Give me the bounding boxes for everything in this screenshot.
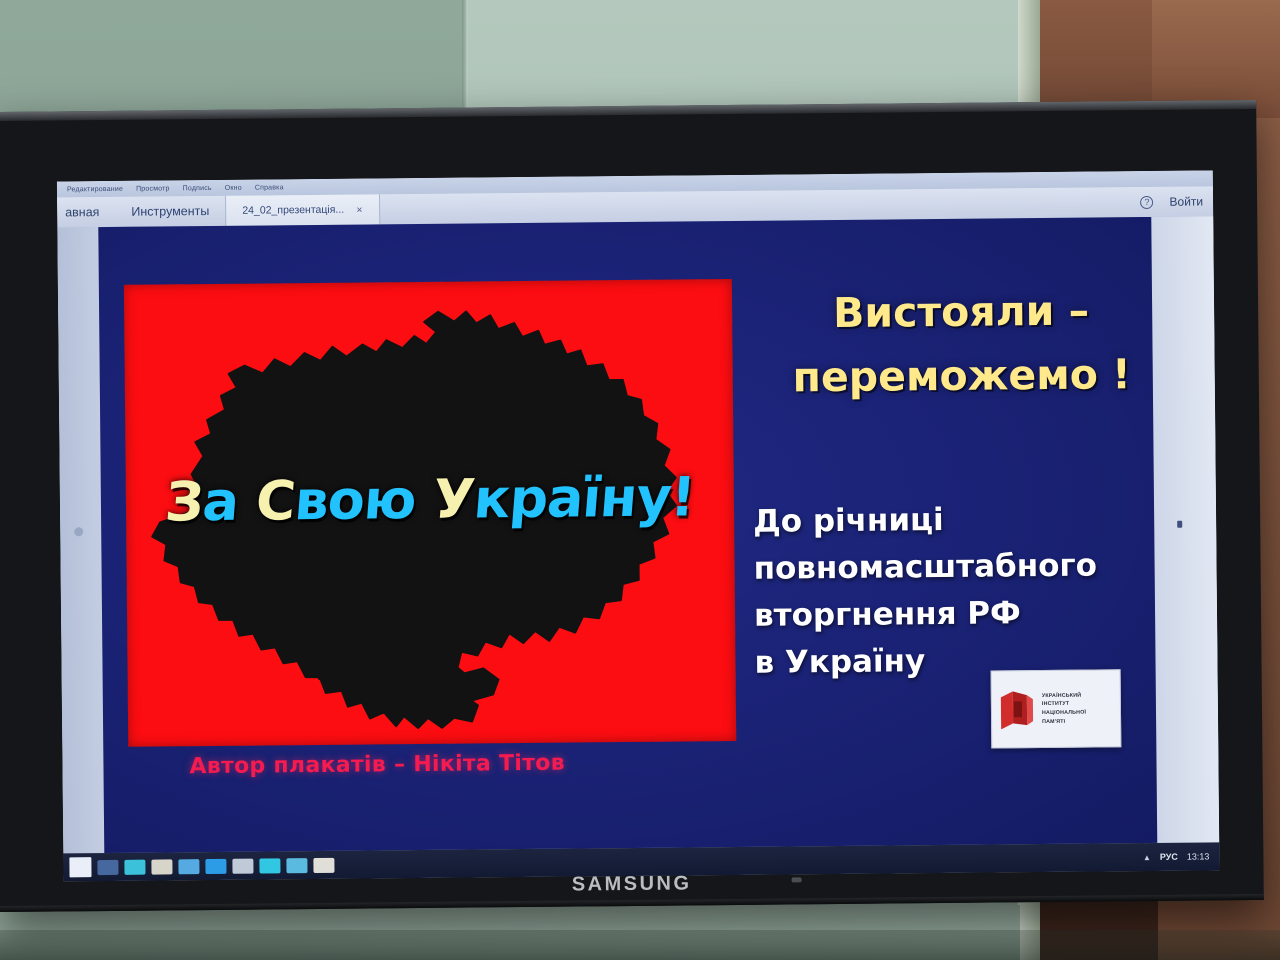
menu-item-help[interactable]: Справка	[255, 184, 284, 191]
slogan-part: а	[200, 470, 240, 533]
headline-line-2: переможемо !	[751, 342, 1157, 410]
start-button-icon[interactable]	[69, 857, 91, 877]
right-pane[interactable]	[1151, 216, 1219, 843]
headline-line-1: Вистояли –	[751, 279, 1157, 347]
tv-screen: Редактирование Просмотр Подпись Окно Спр…	[57, 170, 1220, 881]
language-indicator[interactable]: РУС	[1160, 852, 1178, 862]
tab-home[interactable]: авная	[57, 197, 116, 228]
tab-tools-label: Инструменты	[131, 204, 209, 219]
menu-item-view[interactable]: Просмотр	[136, 185, 170, 192]
television: SAMSUNG Редактирование Просмотр Подпись …	[0, 100, 1264, 912]
taskbar-icon-6[interactable]	[232, 858, 253, 873]
floor-shadow	[0, 930, 1280, 960]
slogan-part: У	[431, 467, 477, 530]
taskbar-icon-7[interactable]	[259, 858, 280, 873]
sign-in-button[interactable]: Войти	[1169, 194, 1203, 208]
taskbar-icon-5[interactable]	[205, 858, 226, 873]
slogan-part: С	[254, 469, 298, 532]
left-pane[interactable]	[57, 227, 104, 853]
system-tray[interactable]: ▲ РУС 13:13	[1143, 851, 1214, 862]
slogan-part: вою	[292, 468, 418, 532]
logo-line-3: НАЦІОНАЛЬНОЇ	[1042, 709, 1086, 718]
close-icon[interactable]: ✕	[356, 205, 363, 214]
poster-slogan: За Свою Україну!	[163, 465, 697, 533]
logo-line-1: УКРАЇНСЬКИЙ	[1042, 691, 1086, 700]
taskbar-icon-3[interactable]	[151, 859, 172, 874]
taskbar-icon-1[interactable]	[97, 859, 118, 874]
slogan-part: країну!	[472, 465, 697, 530]
tray-chevron-icon[interactable]: ▲	[1143, 852, 1151, 861]
institute-logo-text: УКРАЇНСЬКИЙ ІНСТИТУТ НАЦІОНАЛЬНОЇ ПАМ'ЯТ…	[1042, 691, 1086, 726]
poster-image: За Свою Україну!	[124, 279, 736, 747]
tab-bar-right: ? Войти	[1140, 186, 1213, 217]
logo-line-4: ПАМ'ЯТІ	[1042, 717, 1086, 726]
tab-home-label: авная	[65, 205, 99, 219]
acrobat-window: Редактирование Просмотр Подпись Окно Спр…	[57, 170, 1220, 881]
body-line-2: повномасштабного	[753, 542, 1157, 593]
slide-headline: Вистояли – переможемо !	[751, 279, 1157, 410]
slide-body: До річниці повномасштабного вторгнення Р…	[753, 495, 1157, 687]
menu-item-sign[interactable]: Подпись	[183, 184, 212, 191]
menu-item-edit[interactable]: Редактирование	[67, 185, 123, 193]
tab-document-label: 24_02_презентація...	[242, 204, 344, 217]
left-pane-handle[interactable]	[74, 527, 83, 536]
taskbar-clock[interactable]: 13:13	[1187, 851, 1210, 861]
taskbar-icon-8[interactable]	[286, 858, 307, 873]
body-line-3: вторгнення РФ	[754, 589, 1157, 640]
menu-item-window[interactable]: Окно	[225, 184, 242, 191]
taskbar-icon-2[interactable]	[124, 859, 145, 874]
poster-credit: Автор плакатів – Нікіта Тітов	[189, 751, 565, 780]
taskbar-icon-4[interactable]	[178, 859, 199, 874]
document-area: За Свою Україну! Автор плакатів – Нікіта…	[57, 216, 1219, 853]
body-line-1: До річниці	[753, 495, 1157, 546]
institute-logo: УКРАЇНСЬКИЙ ІНСТИТУТ НАЦІОНАЛЬНОЇ ПАМ'ЯТ…	[991, 669, 1122, 748]
slogan-part: З	[163, 470, 205, 533]
help-icon[interactable]: ?	[1140, 195, 1153, 208]
right-pane-marker	[1177, 521, 1182, 528]
tab-tools[interactable]: Инструменты	[115, 196, 225, 227]
tab-document[interactable]: 24_02_презентація... ✕	[225, 194, 380, 225]
open-door-book-icon	[999, 689, 1035, 729]
taskbar-icon-9[interactable]	[313, 857, 334, 872]
pdf-slide: За Свою Україну! Автор плакатів – Нікіта…	[98, 217, 1157, 853]
